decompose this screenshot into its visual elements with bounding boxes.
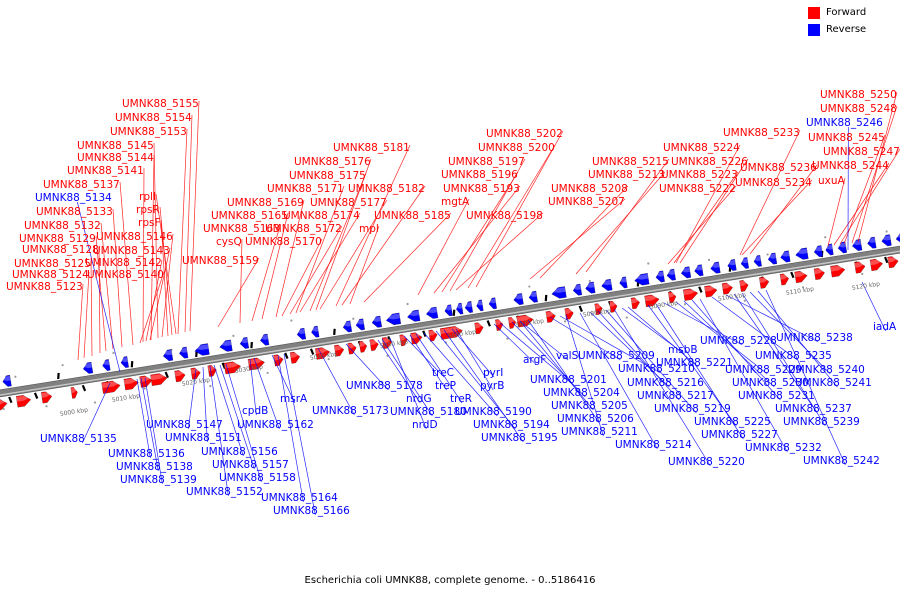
gene-label[interactable]: UMNK88_5166 (273, 506, 350, 517)
gene-label[interactable]: UMNK88_5137 (43, 180, 120, 191)
gene-label[interactable]: treP (435, 381, 456, 392)
gene-label[interactable]: UMNK88_5221 (656, 358, 733, 369)
gene-label[interactable]: UMNK88_5170 (245, 237, 322, 248)
gene-label[interactable]: rplI (139, 192, 156, 203)
label-leader-line (284, 354, 315, 515)
gene-label[interactable]: UMNK88_5236 (740, 163, 817, 174)
gene-label[interactable]: UMNK88_5190 (455, 407, 532, 418)
genome-map-canvas: UMNK88_5123UMNK88_5124UMNK88_5125UMNK88_… (0, 0, 900, 600)
gene-label[interactable]: UMNK88_5172 (265, 224, 342, 235)
legend-swatch-forward (808, 7, 820, 19)
gene-label[interactable]: UMNK88_5185 (374, 211, 451, 222)
gene-label[interactable]: UMNK88_5227 (701, 430, 778, 441)
gene-label[interactable]: UMNK88_5133 (36, 207, 113, 218)
gene-label[interactable]: UMNK88_5241 (795, 378, 872, 389)
gene-label[interactable]: UMNK88_5246 (806, 118, 883, 129)
gene-label[interactable]: nrdG (406, 394, 432, 405)
gene-label[interactable]: UMNK88_5242 (803, 456, 880, 467)
gene-label[interactable]: UMNK88_5181 (333, 143, 410, 154)
gene-label[interactable]: UMNK88_5198 (466, 211, 543, 222)
gene-label[interactable]: UMNK88_5177 (310, 198, 387, 209)
gene-label[interactable]: UMNK88_5196 (441, 170, 518, 181)
gene-label[interactable]: UMNK88_5135 (40, 434, 117, 445)
gene-label[interactable]: UMNK88_5231 (738, 391, 815, 402)
gene-label[interactable]: msrA (280, 394, 307, 405)
gene-label[interactable]: UMNK88_5202 (486, 129, 563, 140)
gene-label[interactable]: UMNK88_5250 (820, 90, 897, 101)
gene-label[interactable]: UMNK88_5204 (543, 388, 620, 399)
strand-legend: Forward Reverse (808, 6, 894, 40)
gene-label[interactable]: nrdD (412, 420, 438, 431)
gene-label[interactable]: UMNK88_5173 (312, 406, 389, 417)
gene-label[interactable]: UMNK88_5136 (108, 449, 185, 460)
gene-label[interactable]: UMNK88_5248 (820, 104, 897, 115)
gene-label[interactable]: UMNK88_5240 (788, 365, 865, 376)
gene-label[interactable]: UMNK88_5139 (120, 475, 197, 486)
label-leader-line (84, 272, 89, 358)
gene-label[interactable]: iadA (873, 322, 896, 333)
gene-label[interactable]: UMNK88_5155 (122, 99, 199, 110)
label-leader-line (456, 213, 543, 290)
gene-label[interactable]: UMNK88_5145 (77, 141, 154, 152)
label-leader-line (742, 180, 812, 255)
gene-label[interactable]: pyrI (483, 368, 503, 379)
gene-label[interactable]: UMNK88_5247 (823, 147, 900, 158)
gene-label[interactable]: UMNK88_5228 (700, 336, 777, 347)
gene-label[interactable]: UMNK88_5156 (201, 447, 278, 458)
gene-label[interactable]: UMNK88_5245 (808, 133, 885, 144)
gene-label[interactable]: cysQ (216, 237, 242, 248)
gene-label[interactable]: UMNK88_5176 (294, 157, 371, 168)
gene-label[interactable]: UMNK88_5165 (211, 211, 288, 222)
gene-label[interactable]: UMNK88_5159 (182, 256, 259, 267)
gene-label[interactable]: UMNK88_5206 (557, 414, 634, 425)
gene-label[interactable]: UMNK88_5182 (348, 184, 425, 195)
legend-swatch-reverse (808, 24, 820, 36)
gene-label[interactable]: UMNK88_5194 (473, 420, 550, 431)
gene-label[interactable]: UMNK88_5152 (186, 487, 263, 498)
gene-label[interactable]: UMNK88_5151 (165, 433, 242, 444)
gene-label[interactable]: UMNK88_5208 (551, 184, 628, 195)
gene-label[interactable]: UMNK88_5217 (637, 391, 714, 402)
gene-label[interactable]: UMNK88_5205 (551, 401, 628, 412)
gene-label[interactable]: uxuA (818, 176, 845, 187)
gene-label[interactable]: UMNK88_5169 (227, 198, 304, 209)
gene-label[interactable]: UMNK88_5233 (723, 128, 800, 139)
label-leader-line (828, 178, 845, 246)
gene-label[interactable]: UMNK88_5244 (812, 161, 889, 172)
gene-label[interactable]: UMNK88_5174 (283, 211, 360, 222)
gene-label[interactable]: UMNK88_5226 (671, 157, 748, 168)
gene-label[interactable]: UMNK88_5239 (783, 417, 860, 428)
gene-label[interactable]: UMNK88_5158 (219, 473, 296, 484)
gene-label[interactable]: UMNK88_5132 (24, 221, 101, 232)
gene-label[interactable]: UMNK88_5175 (289, 171, 366, 182)
gene-label[interactable]: UMNK88_5138 (116, 462, 193, 473)
label-leader-lines (0, 0, 900, 600)
gene-label[interactable]: argF (523, 355, 546, 366)
gene-label[interactable]: UMNK88_5146 (96, 232, 173, 243)
gene-label[interactable]: UMNK88_5211 (561, 427, 638, 438)
gene-label[interactable]: valS (556, 351, 578, 362)
gene-label[interactable]: mpl (359, 224, 379, 235)
legend-label-forward: Forward (826, 7, 866, 19)
gene-label[interactable]: UMNK88_5234 (735, 178, 812, 189)
gene-label[interactable]: pyrB (480, 381, 504, 392)
label-leader-line (218, 258, 259, 327)
gene-label[interactable]: UMNK88_5140 (87, 270, 164, 281)
gene-label[interactable]: UMNK88_5171 (267, 184, 344, 195)
gene-label[interactable]: UMNK88_5197 (448, 157, 525, 168)
label-leader-line (240, 239, 242, 323)
gene-label[interactable]: UMNK88_5222 (659, 184, 736, 195)
gene-label[interactable]: UMNK88_5238 (776, 333, 853, 344)
gene-label[interactable]: UMNK88_5125 (14, 259, 91, 270)
gene-label[interactable]: UMNK88_5214 (615, 440, 692, 451)
gene-label[interactable]: UMNK88_5207 (548, 197, 625, 208)
gene-label[interactable]: UMNK88_5164 (261, 493, 338, 504)
gene-label[interactable]: UMNK88_5154 (115, 113, 192, 124)
label-leader-line (740, 130, 800, 255)
gene-label[interactable]: UMNK88_5147 (146, 420, 223, 431)
gene-label[interactable]: UMNK88_5213 (588, 170, 665, 181)
gene-label[interactable]: UMNK88_5215 (592, 157, 669, 168)
gene-label[interactable]: UMNK88_5216 (627, 378, 704, 389)
gene-label[interactable]: UMNK88_5232 (745, 443, 822, 454)
legend-item-reverse[interactable]: Reverse (808, 23, 894, 37)
gene-label[interactable]: UMNK88_5162 (237, 420, 314, 431)
gene-label[interactable]: rpsF (138, 218, 161, 229)
gene-label[interactable]: UMNK88_5157 (212, 460, 289, 471)
gene-label[interactable]: UMNK88_5142 (85, 258, 162, 269)
gene-label[interactable]: UMNK88_5178 (346, 381, 423, 392)
gene-label[interactable]: UMNK88_5200 (478, 143, 555, 154)
gene-label[interactable]: UMNK88_5141 (67, 166, 144, 177)
gene-label[interactable]: UMNK88_5235 (755, 351, 832, 362)
gene-label[interactable]: cpdB (242, 406, 268, 417)
genome-caption: Escherichia coli UMNK88, complete genome… (0, 575, 900, 586)
gene-label[interactable]: UMNK88_5219 (654, 404, 731, 415)
label-leader-line (476, 131, 563, 287)
gene-label[interactable]: UMNK88_5128 (22, 245, 99, 256)
legend-label-reverse: Reverse (826, 24, 866, 36)
gene-label[interactable]: UMNK88_5201 (530, 375, 607, 386)
gene-label[interactable]: UMNK88_5223 (661, 170, 738, 181)
gene-label[interactable]: treR (450, 394, 472, 405)
gene-label[interactable]: UMNK88_5153 (110, 127, 187, 138)
gene-label[interactable]: mgtA (441, 197, 469, 208)
gene-label[interactable]: UMNK88_5195 (481, 433, 558, 444)
label-leader-line (282, 239, 322, 316)
gene-label[interactable]: UMNK88_5237 (775, 404, 852, 415)
gene-label[interactable]: rpsR (136, 205, 160, 216)
label-leader-line (350, 226, 379, 304)
gene-label[interactable]: msbB (668, 345, 698, 356)
gene-label[interactable]: UMNK88_5124 (12, 270, 89, 281)
gene-label[interactable]: UMNK88_5144 (77, 153, 154, 164)
gene-label[interactable]: UMNK88_5143 (93, 246, 170, 257)
gene-label[interactable]: UMNK88_5134 (35, 193, 112, 204)
gene-label[interactable]: UMNK88_5224 (663, 143, 740, 154)
label-leader-line (78, 284, 83, 360)
gene-label[interactable]: treC (432, 368, 454, 379)
gene-label[interactable]: UMNK88_5129 (19, 234, 96, 245)
gene-label[interactable]: UMNK88_5220 (668, 457, 745, 468)
legend-item-forward[interactable]: Forward (808, 6, 894, 20)
gene-label[interactable]: UMNK88_5193 (443, 184, 520, 195)
gene-label[interactable]: UMNK88_5209 (578, 351, 655, 362)
gene-label[interactable]: UMNK88_5225 (694, 417, 771, 428)
label-leader-line (668, 186, 736, 264)
gene-label[interactable]: UMNK88_5123 (6, 282, 83, 293)
